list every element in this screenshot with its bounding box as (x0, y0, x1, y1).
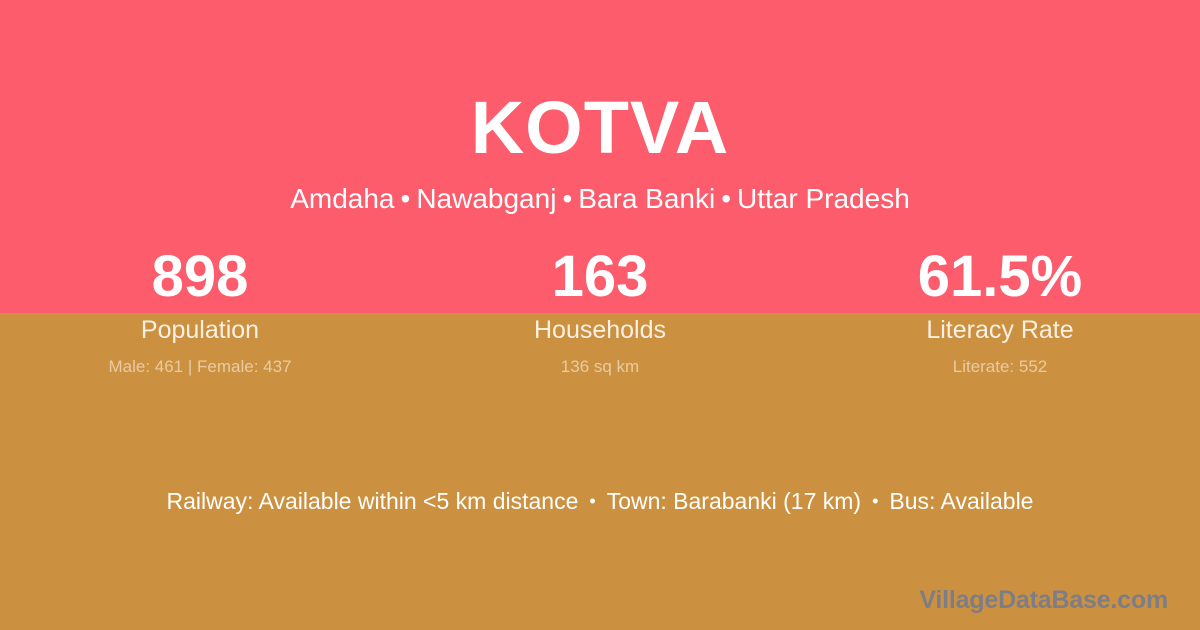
info-separator: • (861, 491, 889, 511)
page-title: KOTVA (0, 86, 1200, 170)
stat-households: 163 Households 136 sq km (400, 244, 800, 379)
stat-literacy-rate: 61.5% Literacy Rate Literate: 552 (800, 244, 1200, 379)
stat-value: 163 (400, 244, 800, 310)
stat-sublabel: 136 sq km (400, 355, 800, 379)
info-item-railway: Railway: Available within <5 km distance (167, 488, 579, 514)
stat-label: Population (0, 314, 400, 346)
village-info-card: KOTVA Amdaha•Nawabganj•Bara Banki•Uttar … (0, 0, 1200, 630)
breadcrumb-separator: • (556, 183, 578, 214)
stat-value: 898 (0, 244, 400, 310)
info-item-town: Town: Barabanki (17 km) (607, 488, 861, 514)
breadcrumb-part-district: Bara Banki (578, 183, 715, 214)
card-content: KOTVA Amdaha•Nawabganj•Bara Banki•Uttar … (0, 0, 1200, 630)
stat-sublabel: Literate: 552 (800, 355, 1200, 379)
info-item-bus: Bus: Available (889, 488, 1033, 514)
breadcrumb-part-state: Uttar Pradesh (737, 183, 910, 214)
stat-sublabel: Male: 461 | Female: 437 (0, 355, 400, 379)
breadcrumb-separator: • (395, 183, 417, 214)
stat-value: 61.5% (800, 244, 1200, 310)
stat-label: Literacy Rate (800, 314, 1200, 346)
connectivity-info: Railway: Available within <5 km distance… (0, 486, 1200, 518)
breadcrumb: Amdaha•Nawabganj•Bara Banki•Uttar Prades… (0, 181, 1200, 217)
breadcrumb-separator: • (715, 183, 737, 214)
breadcrumb-part-village: Amdaha (290, 183, 394, 214)
breadcrumb-part-block: Nawabganj (416, 183, 556, 214)
stat-population: 898 Population Male: 461 | Female: 437 (0, 244, 400, 379)
stats-row: 898 Population Male: 461 | Female: 437 1… (0, 244, 1200, 379)
stat-label: Households (400, 314, 800, 346)
info-separator: • (578, 491, 606, 511)
site-watermark: VillageDataBase.com (919, 585, 1168, 615)
